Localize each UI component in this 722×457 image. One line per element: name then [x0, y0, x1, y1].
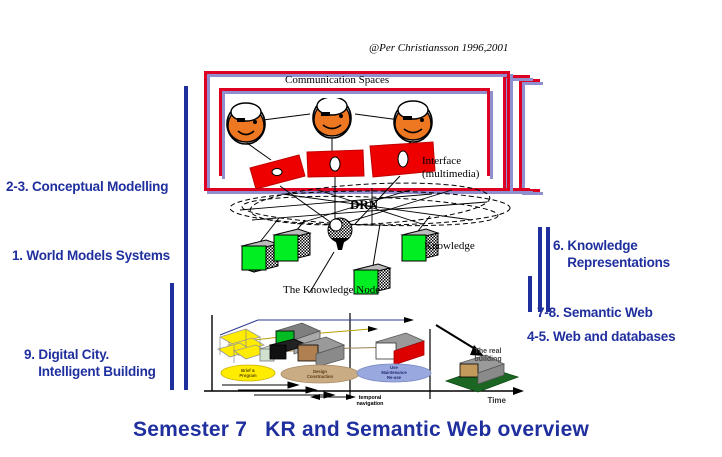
right-accent-bar-1 — [538, 227, 542, 312]
left-label-world-models-systems: 1. World Models Systems — [12, 247, 170, 264]
actor-head-2 — [313, 98, 351, 138]
phase-design-construction-models — [260, 323, 344, 367]
right-accent-bar-2 — [546, 227, 550, 312]
knowledge-cube-2 — [274, 229, 310, 261]
building-lifecycle-timeline: Brief & Program Design Construction Use … — [198, 307, 533, 407]
real-building-label-line2: building — [474, 356, 501, 363]
right-label-knowledge-representations: 6. Knowledge Representations — [553, 237, 670, 271]
drn-knowledge-graphic: DRN — [222, 180, 522, 295]
temporal-navigation-label-line2: navigation — [357, 401, 384, 407]
time-axis-label: Time — [487, 396, 506, 405]
right-label-web-and-databases: 4-5. Web and databases — [527, 328, 675, 345]
left-accent-bar-1 — [184, 86, 188, 283]
knowledge-label: Knowledge — [424, 240, 475, 253]
actor-head-3 — [394, 101, 432, 142]
actor-head-1 — [227, 103, 265, 144]
copyright-notice: @Per Christiansson 1996,2001 — [369, 42, 508, 54]
svg-text:Program: Program — [239, 373, 256, 378]
left-label-digital-city: 9. Digital City. Intelligent Building — [24, 346, 156, 380]
svg-text:Re-use: Re-use — [387, 375, 402, 380]
drn-label: DRN — [350, 197, 379, 212]
left-accent-bar-3 — [184, 283, 188, 390]
page-title: Semester 7 KR and Semantic Web overview — [0, 418, 722, 442]
right-label-semantic-web: 7-8. Semantic Web — [537, 304, 653, 321]
phase-use-maintenance-model — [376, 333, 424, 365]
knowledge-node-label: The Knowledge Node — [283, 284, 380, 297]
real-building-label-line1: The real — [475, 348, 502, 355]
interface-screen-2 — [307, 150, 364, 177]
knowledge-node-sphere — [328, 218, 352, 250]
left-label-conceptual-modelling: 2-3. Conceptual Modelling — [6, 178, 168, 195]
communication-spaces-label: Communication Spaces — [285, 74, 389, 87]
svg-text:Construction: Construction — [307, 374, 333, 379]
knowledge-cube-1 — [242, 240, 278, 272]
interface-multimedia-label: Interface (multimedia) — [422, 155, 479, 181]
left-accent-bar-2 — [170, 283, 174, 390]
